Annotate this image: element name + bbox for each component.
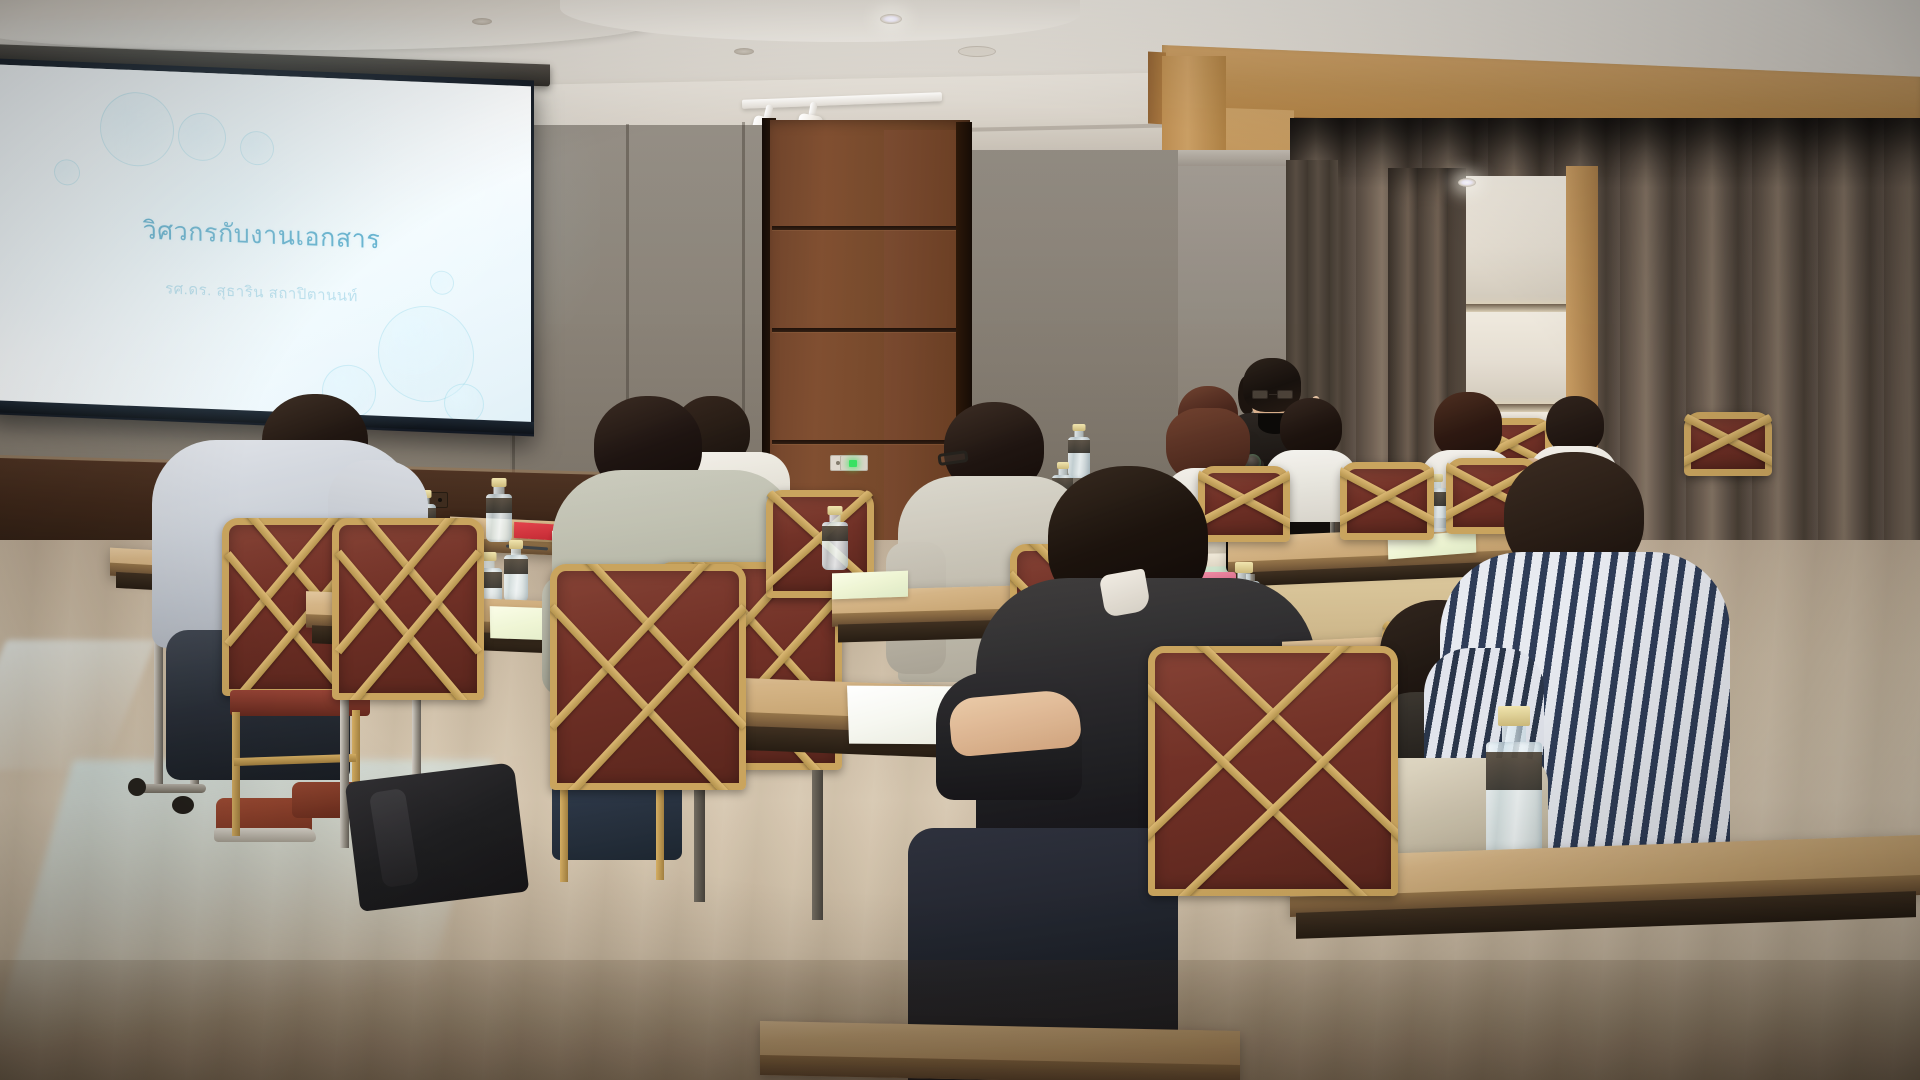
audience-head (1280, 398, 1342, 458)
ceiling-downlight-icon (880, 14, 902, 24)
seminar-room-photo: วิศวกรกับงานเอกสาร รศ.ดร. สุธาริน สถาปิต… (0, 0, 1920, 1080)
ceiling-downlight-icon (734, 48, 754, 55)
wall-panel-middle (1456, 312, 1572, 404)
banquet-chair (1340, 462, 1434, 540)
banquet-chair (550, 564, 746, 790)
backpack (345, 762, 530, 912)
audience-head (1434, 392, 1502, 458)
table-leg (812, 770, 823, 920)
wood-panel-seam (772, 328, 970, 332)
power-outlet-led-icon (840, 455, 868, 471)
ceiling-downlight-icon (1458, 178, 1476, 187)
ceiling-vent-icon (958, 46, 996, 57)
wall-panel-lightgap (1456, 304, 1572, 312)
projection-screen: วิศวกรกับงานเอกสาร รศ.ดร. สุธาริน สถาปิต… (0, 58, 534, 436)
notepad-paper (832, 571, 908, 600)
slide-title: วิศวกรกับงานเอกสาร (0, 204, 531, 266)
water-bottle (486, 478, 512, 542)
water-bottle (504, 540, 528, 602)
chair-leg (232, 712, 240, 836)
audience-shoe-sole (214, 828, 316, 842)
table-glide-icon (172, 796, 194, 814)
banquet-chair (1148, 646, 1398, 896)
wall-panel-upper (1456, 176, 1572, 304)
water-bottle (822, 506, 848, 570)
curtain-top-shadow (1290, 118, 1920, 188)
wood-panel-seam (772, 226, 970, 230)
audience-forearm-skin (948, 688, 1083, 757)
projection-screen-surface: วิศวกรกับงานเอกสาร รศ.ดร. สุธาริน สถาปิต… (0, 64, 531, 430)
water-bottle (1486, 706, 1542, 864)
slide-bubble-decor (240, 130, 274, 165)
table-glide-icon (128, 778, 146, 796)
ceiling-downlight-icon (472, 18, 492, 25)
banquet-chair (332, 518, 484, 700)
ceiling-recess-center (560, 0, 1080, 42)
slide-bubble-decor (100, 91, 174, 168)
slide-bubble-decor (178, 112, 226, 162)
slide-bubble-decor (54, 159, 80, 186)
floor-foreground-shadow (0, 960, 1920, 1080)
